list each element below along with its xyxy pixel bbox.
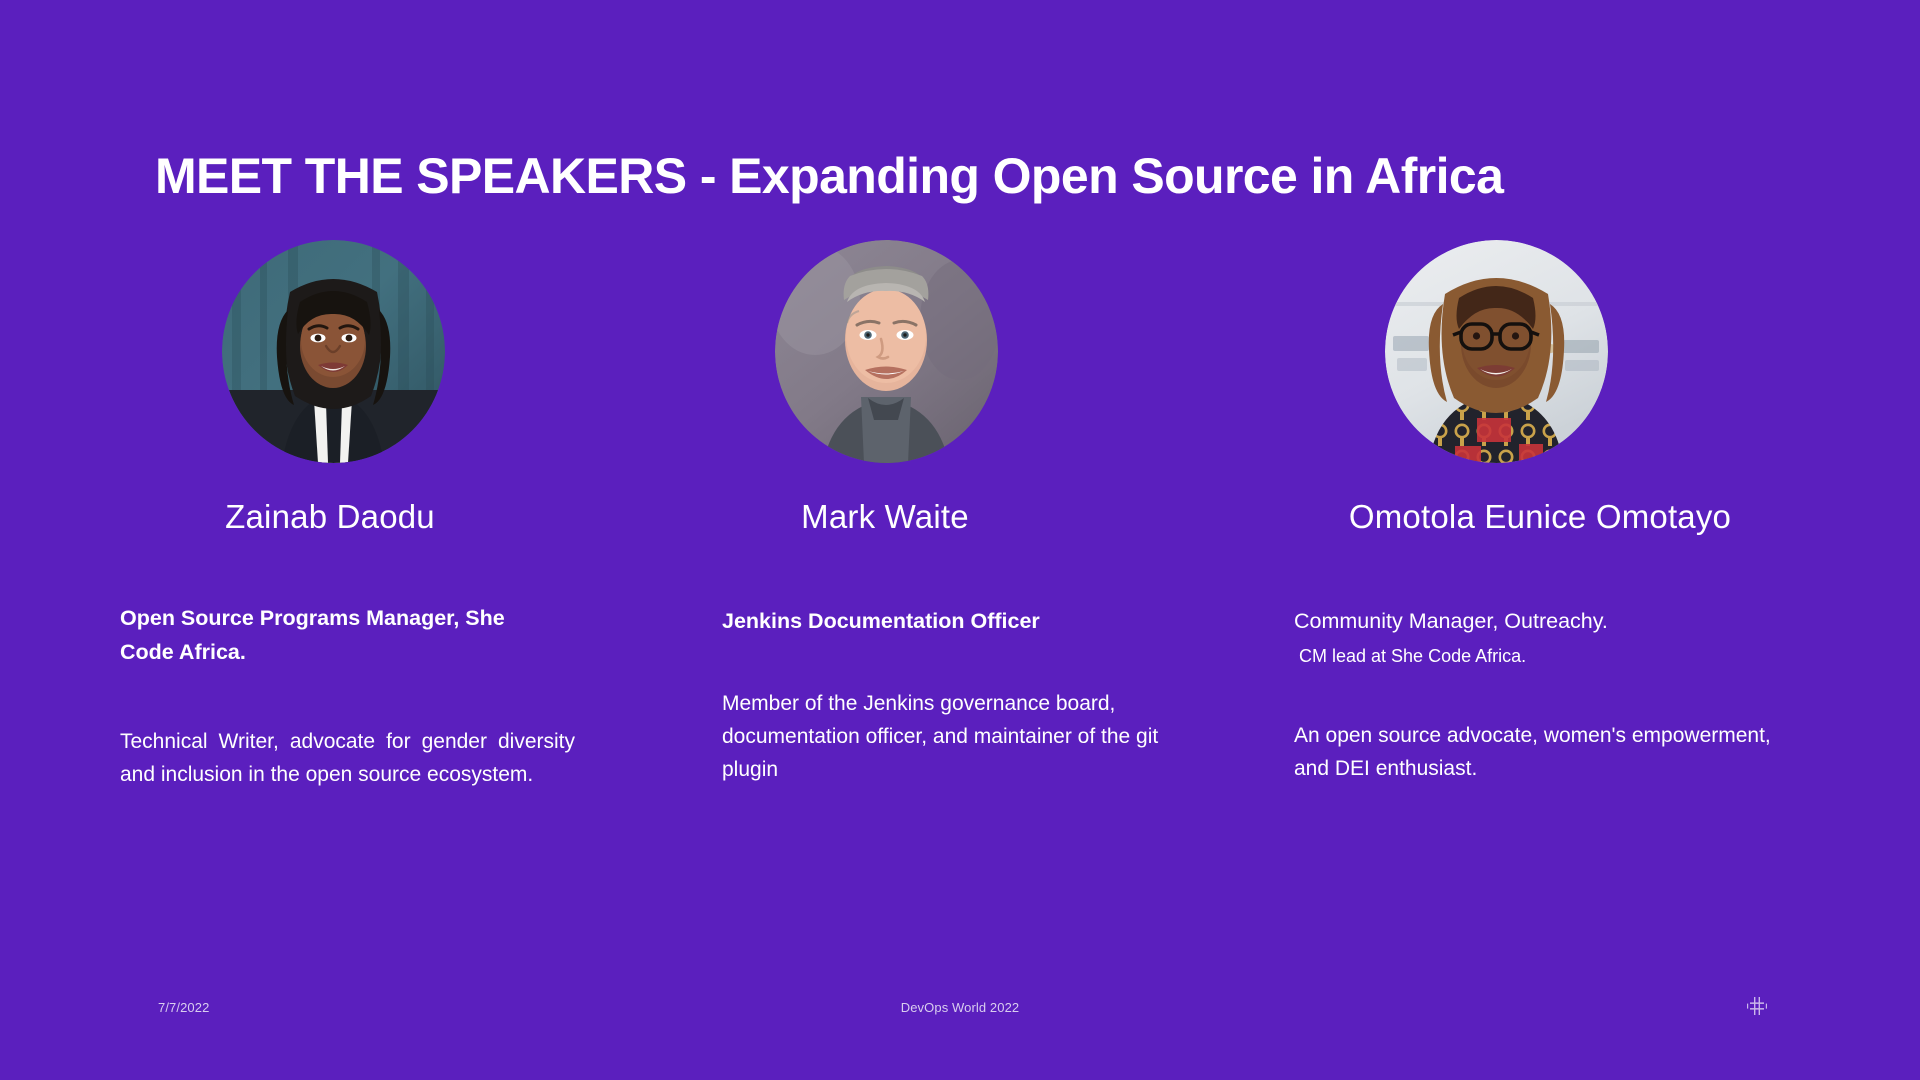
speaker-role-secondary: CM lead at She Code Africa. — [1294, 643, 1794, 670]
speaker-bio: Member of the Jenkins governance board, … — [722, 687, 1172, 787]
speaker-card-2: Mark Waite Jenkins Documentation Officer… — [660, 240, 1220, 537]
speaker-bio: Technical Writer, advocate for gender di… — [120, 725, 575, 791]
speaker-card-3: Omotola Eunice Omotayo Community Manager… — [1230, 240, 1790, 537]
avatar — [775, 240, 998, 463]
avatar — [1385, 240, 1608, 463]
avatar — [222, 240, 445, 463]
speaker-role: Community Manager, Outreachy. — [1294, 605, 1794, 637]
speaker-bio: An open source advocate, women's empower… — [1294, 719, 1794, 785]
speaker-name: Zainab Daodu — [100, 497, 560, 537]
speaker-name: Mark Waite — [660, 497, 1110, 537]
page-title: MEET THE SPEAKERS - Expanding Open Sourc… — [155, 148, 1795, 204]
speakers-row: Zainab Daodu Open Source Programs Manage… — [0, 240, 1920, 840]
speaker-card-1: Zainab Daodu Open Source Programs Manage… — [100, 240, 660, 537]
footer-event-name: DevOps World 2022 — [0, 1000, 1920, 1015]
speaker-role-group: Community Manager, Outreachy. CM lead at… — [1294, 605, 1794, 670]
slide-canvas: MEET THE SPEAKERS - Expanding Open Sourc… — [0, 0, 1920, 1080]
jenkins-logo-icon — [1746, 996, 1768, 1016]
speaker-name: Omotola Eunice Omotayo — [1230, 497, 1850, 537]
speaker-role: Jenkins Documentation Officer — [722, 605, 1172, 639]
speaker-role: Open Source Programs Manager, She Code A… — [120, 602, 540, 670]
